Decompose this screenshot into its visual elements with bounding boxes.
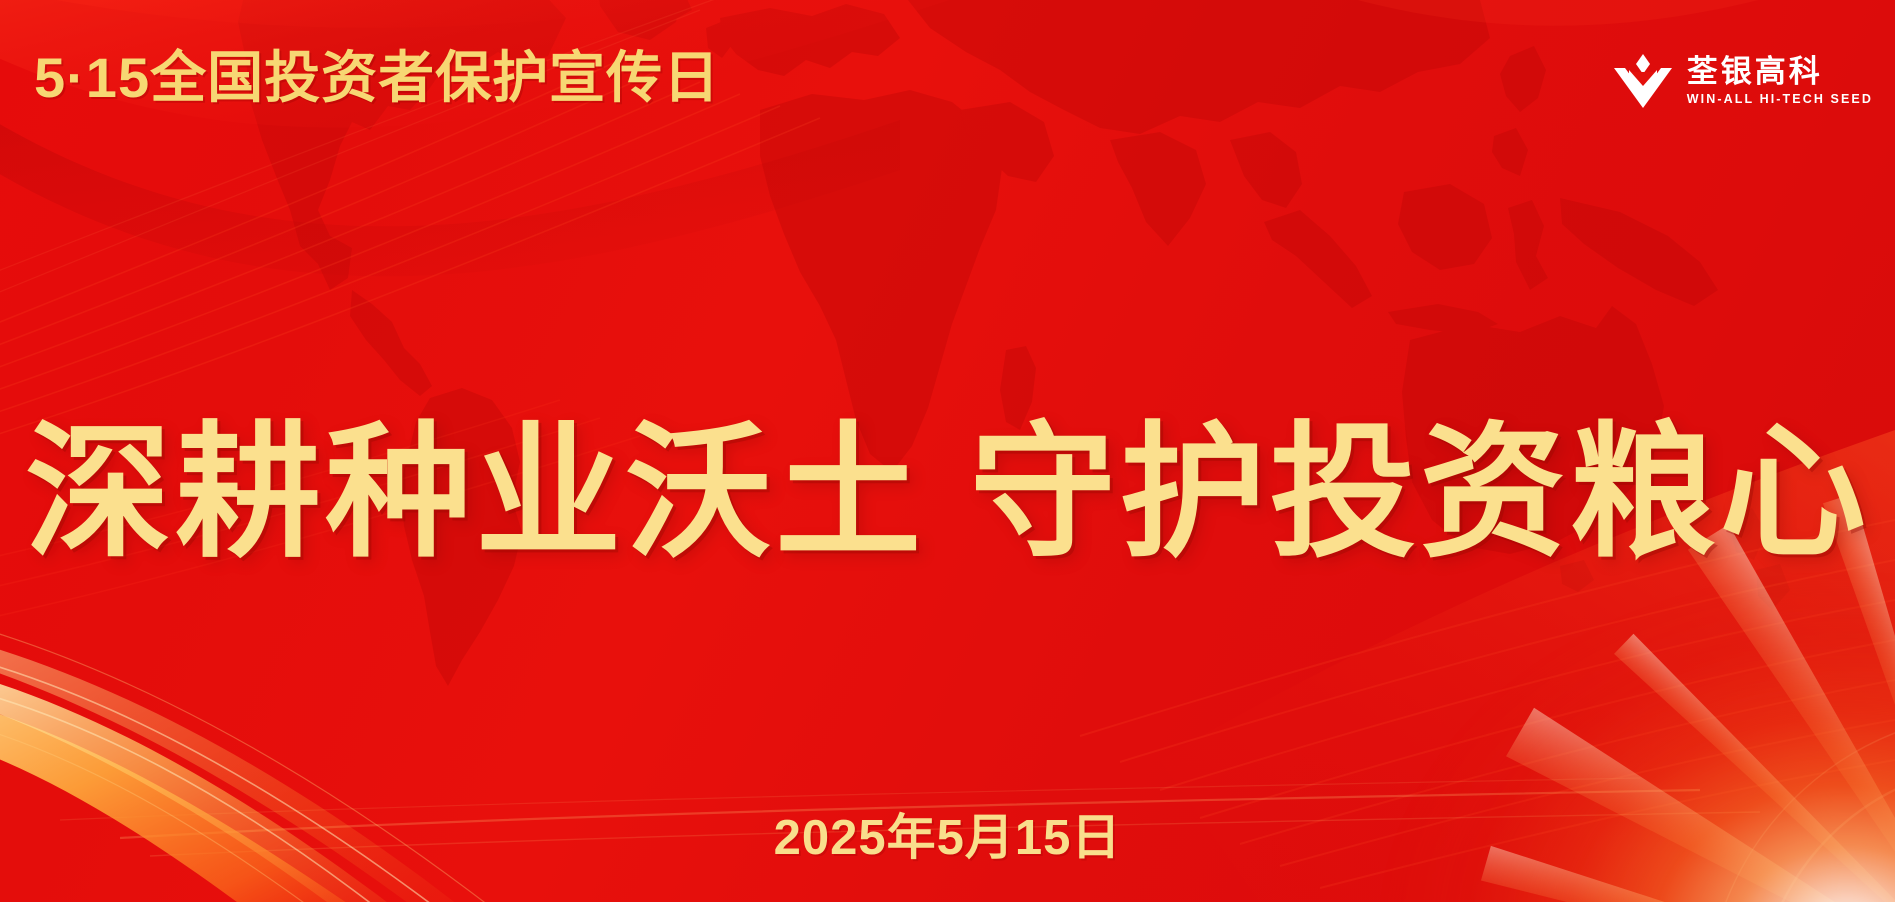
campaign-kicker-title: 5·15全国投资者保护宣传日	[34, 50, 720, 106]
main-slogan-title: 深耕种业沃土 守护投资粮心	[0, 408, 1895, 577]
company-logo-text: 荃银高科 WIN-ALL HI-TECH SEED	[1687, 56, 1873, 106]
winall-chevron-seedling-icon	[1612, 50, 1674, 112]
company-name-en: WIN-ALL HI-TECH SEED	[1687, 93, 1873, 106]
banner-header: 5·15全国投资者保护宣传日 荃银高科 WIN-ALL HI-TECH SEED	[0, 0, 1895, 150]
investor-protection-day-banner: 5·15全国投资者保护宣传日 荃银高科 WIN-ALL HI-TECH SEED	[0, 0, 1895, 902]
event-date: 2025年5月15日	[0, 798, 1895, 869]
company-name-cn: 荃银高科	[1687, 56, 1873, 87]
company-logo: 荃银高科 WIN-ALL HI-TECH SEED	[1612, 50, 1873, 112]
